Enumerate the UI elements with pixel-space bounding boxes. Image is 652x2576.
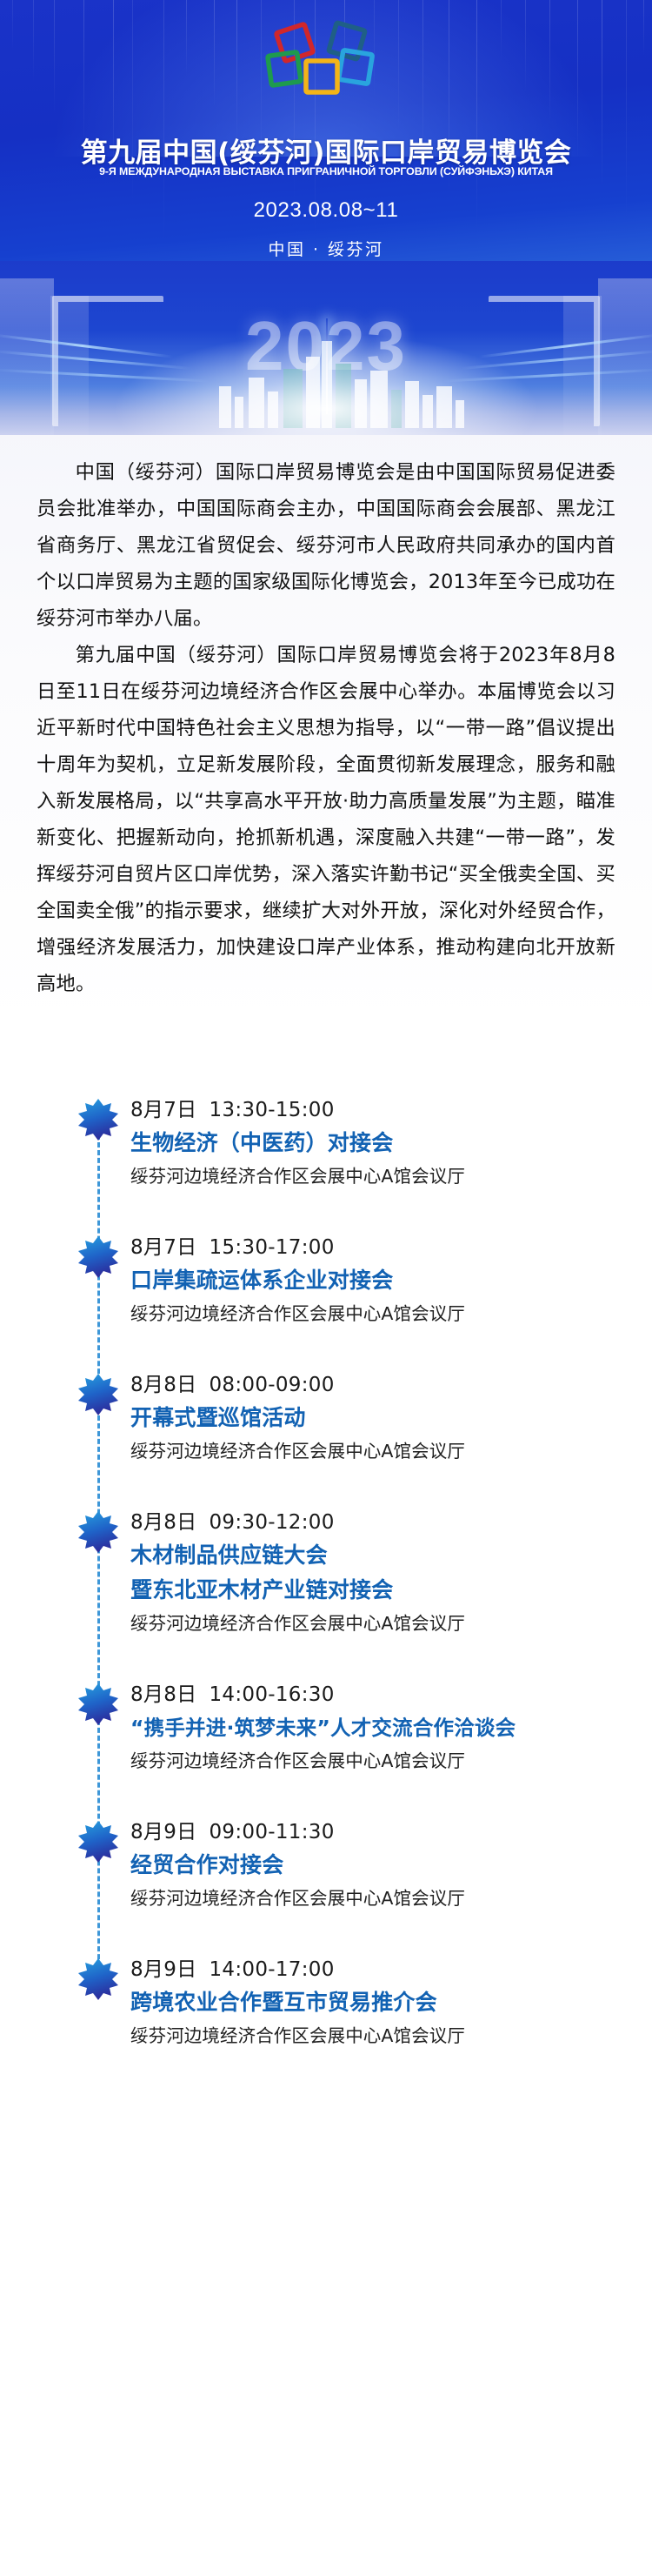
- timeline-marker: [77, 1098, 120, 1141]
- timeline-event[interactable]: 8月9日14:00-17:00跨境农业合作暨互市贸易推介会绥芬河边境经济合作区会…: [0, 1954, 652, 2051]
- article-paragraph-2: 第九届中国（绥芬河）国际口岸贸易博览会将于2023年8月8日至11日在绥芬河边境…: [37, 637, 615, 1002]
- flower-star-marker-icon: [77, 1820, 120, 1863]
- header-banner: 第九届中国(绥芬河)国际口岸贸易博览会 9-Я МЕЖДУНАРОДНАЯ ВЫ…: [0, 0, 652, 435]
- event-date: 8月8日: [130, 1511, 196, 1534]
- event-title: 跨境农业合作暨互市贸易推介会: [130, 1985, 615, 2020]
- event-time: 8月9日14:00-17:00: [130, 1954, 615, 1985]
- event-venue: 绥芬河边境经济合作区会展中心A馆会议厅: [130, 1883, 615, 1914]
- event-hours: 14:00-16:30: [209, 1683, 334, 1706]
- event-venue: 绥芬河边境经济合作区会展中心A馆会议厅: [130, 1745, 615, 1776]
- event-date: 8月7日: [130, 1099, 196, 1121]
- event-time: 8月8日08:00-09:00: [130, 1369, 615, 1401]
- event-time: 8月7日15:30-17:00: [130, 1232, 615, 1263]
- event-date: 8月8日: [130, 1683, 196, 1706]
- timeline-event[interactable]: 8月8日09:30-12:00木材制品供应链大会暨东北亚木材产业链对接会绥芬河边…: [0, 1507, 652, 1639]
- event-venue: 绥芬河边境经济合作区会展中心A馆会议厅: [130, 1298, 615, 1329]
- timeline-marker: [77, 1820, 120, 1863]
- schedule-timeline: 8月7日13:30-15:00生物经济（中医药）对接会绥芬河边境经济合作区会展中…: [0, 1094, 652, 2086]
- event-venue: 绥芬河边境经济合作区会展中心A馆会议厅: [130, 1608, 615, 1639]
- event-title: 开幕式暨巡馆活动: [130, 1401, 615, 1435]
- event-time: 8月9日09:00-11:30: [130, 1817, 615, 1848]
- event-hours: 15:30-17:00: [209, 1236, 334, 1259]
- event-time: 8月7日13:30-15:00: [130, 1094, 615, 1126]
- event-title: 口岸集疏运体系企业对接会: [130, 1263, 615, 1298]
- banner-date: 2023.08.08~11: [0, 198, 652, 223]
- flower-star-marker-icon: [77, 1373, 120, 1416]
- article-body: 中国（绥芬河）国际口岸贸易博览会是由中国国际贸易促进委员会批准举办，中国国际商会…: [0, 435, 652, 1002]
- event-title: 生物经济（中医药）对接会: [130, 1126, 615, 1161]
- timeline-event[interactable]: 8月7日13:30-15:00生物经济（中医药）对接会绥芬河边境经济合作区会展中…: [0, 1094, 652, 1192]
- flower-star-marker-icon: [77, 1683, 120, 1726]
- event-time: 8月8日09:30-12:00: [130, 1507, 615, 1538]
- timeline-marker: [77, 1957, 120, 2001]
- event-hours: 09:00-11:30: [209, 1821, 334, 1843]
- timeline-event[interactable]: 8月8日08:00-09:00开幕式暨巡馆活动绥芬河边境经济合作区会展中心A馆会…: [0, 1369, 652, 1467]
- banner-title-ru: 9-Я МЕЖДУНАРОДНАЯ ВЫСТАВКА ПРИГРАНИЧНОЙ …: [0, 165, 652, 177]
- hero-artwork: 2023: [0, 261, 652, 435]
- flower-star-marker-icon: [77, 1957, 120, 2001]
- flower-star-marker-icon: [77, 1510, 120, 1554]
- event-venue: 绥芬河边境经济合作区会展中心A馆会议厅: [130, 1161, 615, 1192]
- event-title: 木材制品供应链大会: [130, 1538, 615, 1573]
- flower-star-marker-icon: [77, 1098, 120, 1141]
- event-hours: 09:30-12:00: [209, 1511, 334, 1534]
- event-date: 8月8日: [130, 1374, 196, 1396]
- event-title-line2: 暨东北亚木材产业链对接会: [130, 1573, 615, 1608]
- event-date: 8月9日: [130, 1958, 196, 1981]
- timeline-marker: [77, 1683, 120, 1726]
- timeline-event[interactable]: 8月8日14:00-16:30“携手并进·筑梦未来”人才交流合作洽谈会绥芬河边境…: [0, 1679, 652, 1776]
- event-hours: 14:00-17:00: [209, 1958, 334, 1981]
- event-title: 经贸合作对接会: [130, 1848, 615, 1883]
- event-date: 8月7日: [130, 1236, 196, 1259]
- event-venue: 绥芬河边境经济合作区会展中心A馆会议厅: [130, 1435, 615, 1467]
- timeline-marker: [77, 1235, 120, 1279]
- banner-title-cn: 第九届中国(绥芬河)国际口岸贸易博览会: [0, 130, 652, 170]
- expo-logo: [0, 19, 652, 99]
- event-date: 8月9日: [130, 1821, 196, 1843]
- event-venue: 绥芬河边境经济合作区会展中心A馆会议厅: [130, 2020, 615, 2051]
- timeline-event[interactable]: 8月9日09:00-11:30经贸合作对接会绥芬河边境经济合作区会展中心A馆会议…: [0, 1817, 652, 1914]
- flower-star-marker-icon: [77, 1235, 120, 1279]
- article-paragraph-1: 中国（绥芬河）国际口岸贸易博览会是由中国国际贸易促进委员会批准举办，中国国际商会…: [37, 454, 615, 637]
- banner-location: 中国 · 绥芬河: [0, 237, 652, 260]
- timeline-marker: [77, 1510, 120, 1554]
- expo-interlocking-squares-logo: [261, 19, 391, 99]
- floor-glow: [0, 331, 652, 435]
- timeline-marker: [77, 1373, 120, 1416]
- event-hours: 08:00-09:00: [209, 1374, 334, 1396]
- event-time: 8月8日14:00-16:30: [130, 1679, 615, 1710]
- event-hours: 13:30-15:00: [209, 1099, 334, 1121]
- timeline-event[interactable]: 8月7日15:30-17:00口岸集疏运体系企业对接会绥芬河边境经济合作区会展中…: [0, 1232, 652, 1329]
- event-title: “携手并进·筑梦未来”人才交流合作洽谈会: [130, 1710, 615, 1745]
- poster-page: 第九届中国(绥芬河)国际口岸贸易博览会 9-Я МЕЖДУНАРОДНАЯ ВЫ…: [0, 0, 652, 2576]
